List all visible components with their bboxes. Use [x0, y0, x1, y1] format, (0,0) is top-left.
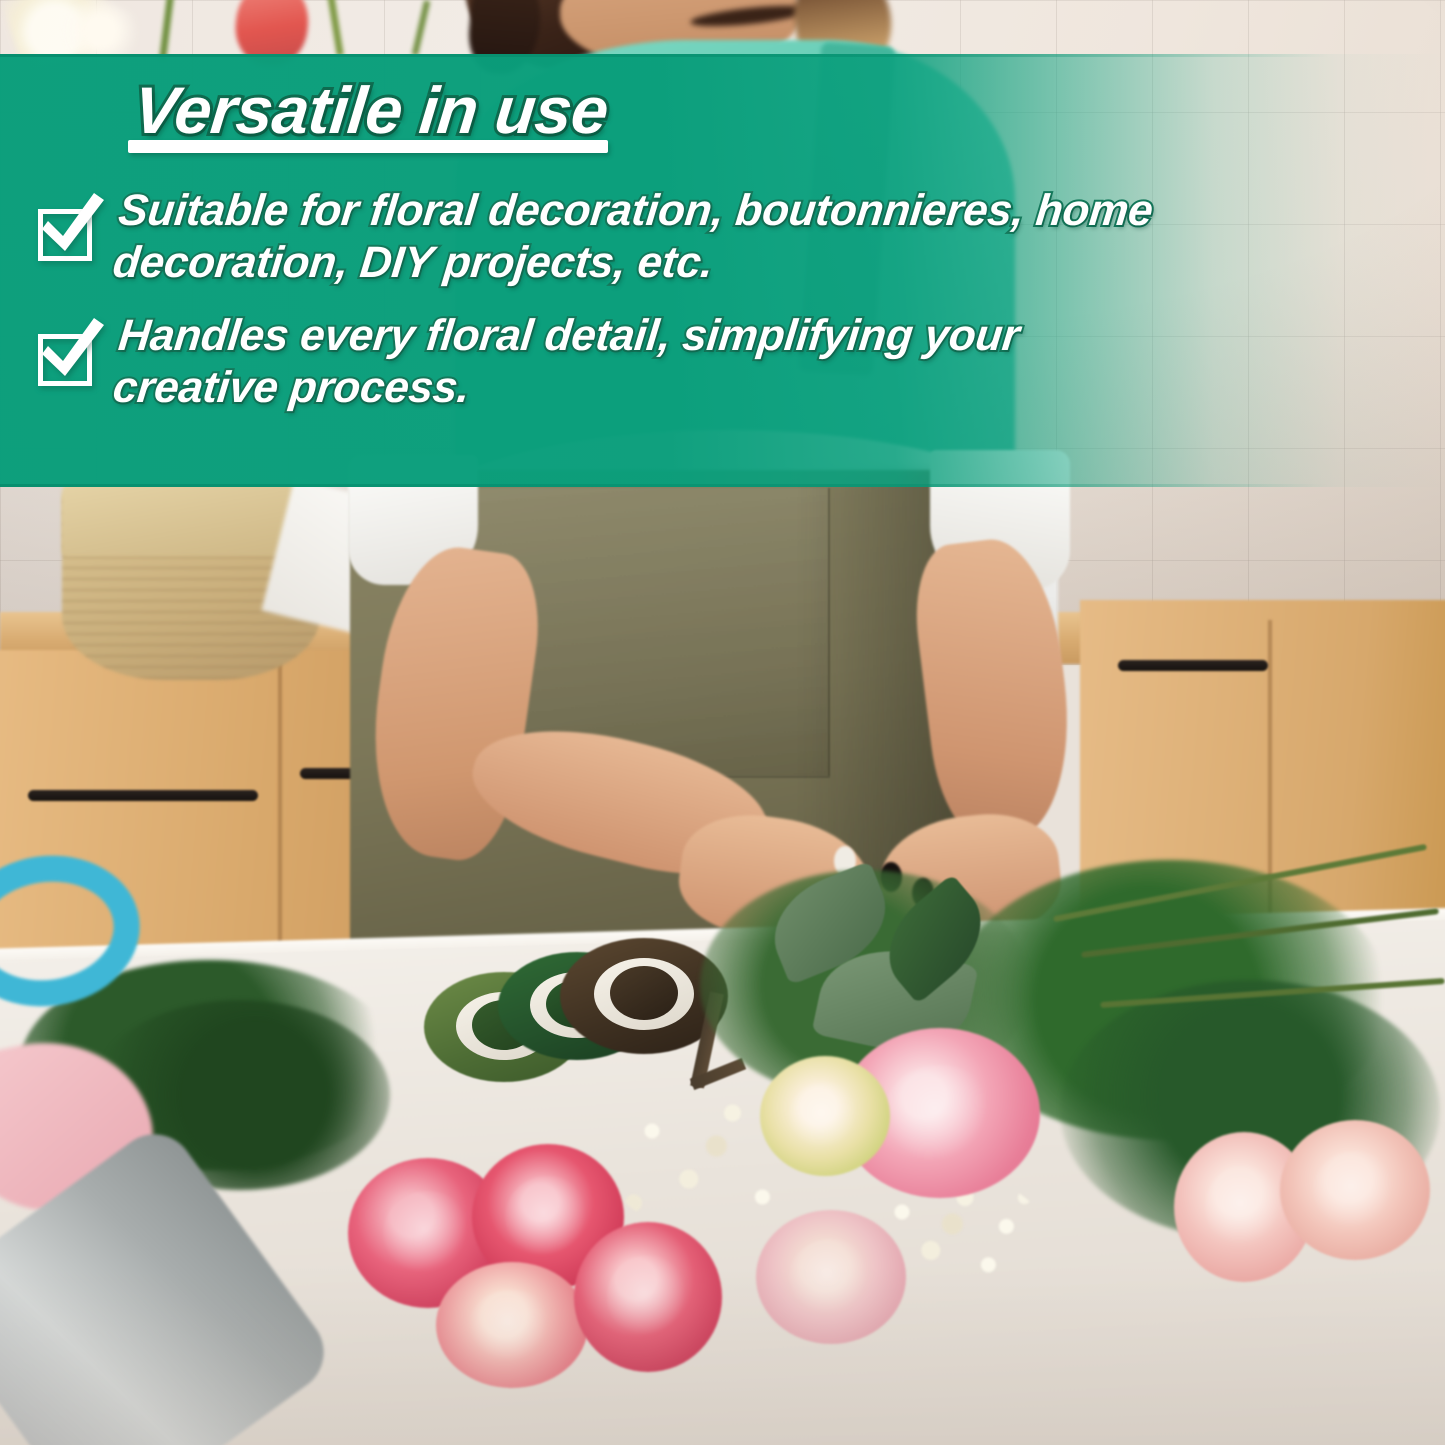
page-title: Versatile in use [130, 76, 611, 145]
title-underline [128, 140, 608, 153]
feature-text: Suitable for floral decoration, boutonni… [111, 185, 1262, 289]
carnation-pale [1280, 1120, 1430, 1260]
feature-list: Suitable for floral decoration, boutonni… [26, 185, 1405, 415]
product-marketing-image: Versatile in use Suitable for floral dec… [0, 0, 1445, 1445]
cabinet-seam [278, 660, 282, 980]
checkbox-checked-icon [34, 197, 98, 259]
cabinet-handle [1118, 660, 1268, 671]
checkmark-glyph [32, 314, 110, 392]
feature-text: Handles every floral detail, simplifying… [111, 310, 1132, 414]
banner-content: Versatile in use Suitable for floral dec… [0, 54, 1445, 487]
feature-item: Suitable for floral decoration, boutonni… [26, 185, 1405, 289]
page-title-wrapper: Versatile in use [134, 76, 608, 145]
tape-roll-hole [610, 966, 678, 1020]
cabinet-handle [28, 790, 258, 801]
feature-item: Handles every floral detail, simplifying… [26, 310, 1405, 414]
green-rose-bud [760, 1056, 890, 1176]
checkmark-glyph [32, 189, 110, 267]
foreground-shading [0, 1265, 1445, 1445]
checkbox-checked-icon [34, 322, 98, 384]
